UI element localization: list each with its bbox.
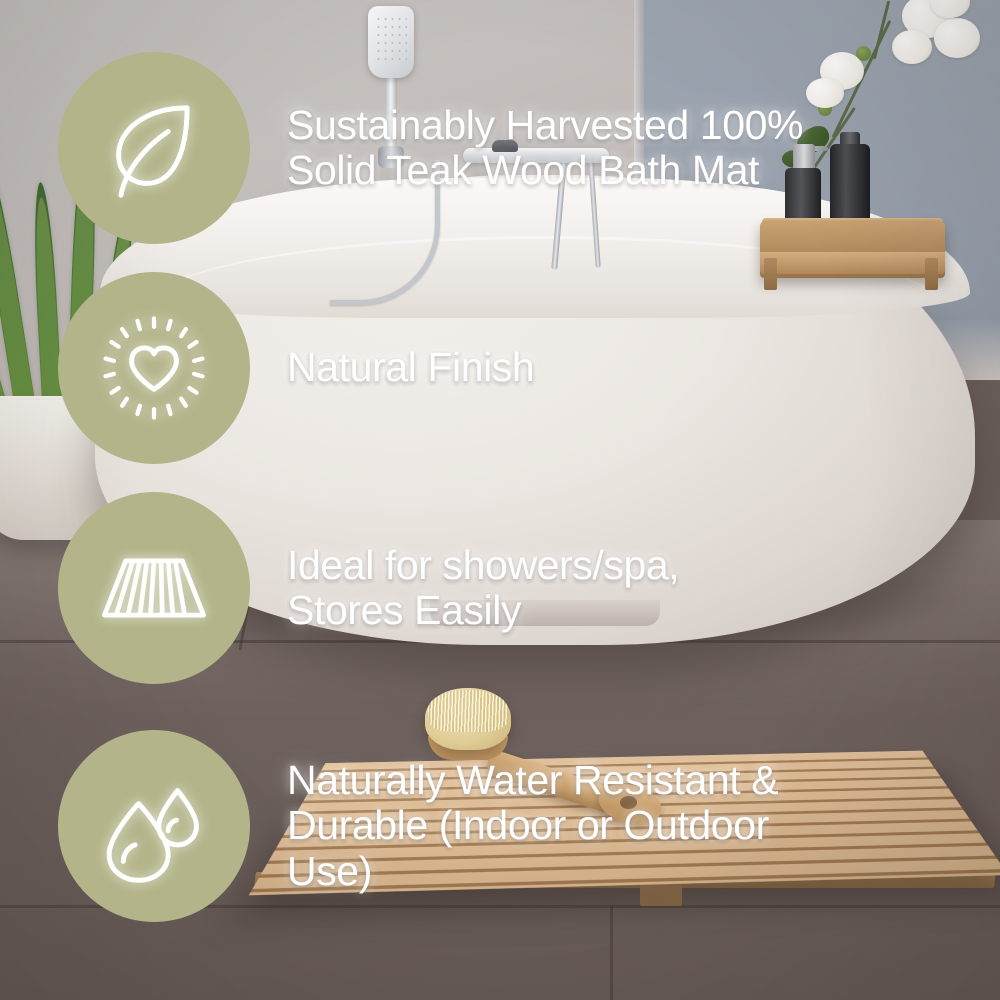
feature-text: Ideal for showers/spa, Stores Easily (287, 543, 679, 634)
feature-icon-badge (58, 492, 250, 684)
feature-icon-badge (58, 730, 250, 922)
feature-text: Natural Finish (287, 345, 534, 391)
infographic-canvas: Sustainably Harvested 100% Solid Teak Wo… (0, 0, 1000, 1000)
feature-item-sustainably-harvested: Sustainably Harvested 100% Solid Teak Wo… (58, 52, 803, 244)
feature-icon-badge (58, 272, 250, 464)
heart-sparkle-icon (95, 309, 213, 427)
feature-list: Sustainably Harvested 100% Solid Teak Wo… (0, 0, 1000, 1000)
feature-icon-badge (58, 52, 250, 244)
feature-text: Sustainably Harvested 100% Solid Teak Wo… (287, 103, 803, 194)
feature-item-natural-finish: Natural Finish (58, 272, 534, 464)
slatted-mat-icon (95, 529, 213, 647)
feature-item-water-resistant: Naturally Water Resistant & Durable (Ind… (58, 730, 778, 922)
feature-item-ideal-for-showers: Ideal for showers/spa, Stores Easily (58, 492, 679, 684)
feature-text: Naturally Water Resistant & Durable (Ind… (287, 758, 778, 895)
leaf-icon (95, 89, 213, 207)
water-drops-icon (95, 767, 213, 885)
